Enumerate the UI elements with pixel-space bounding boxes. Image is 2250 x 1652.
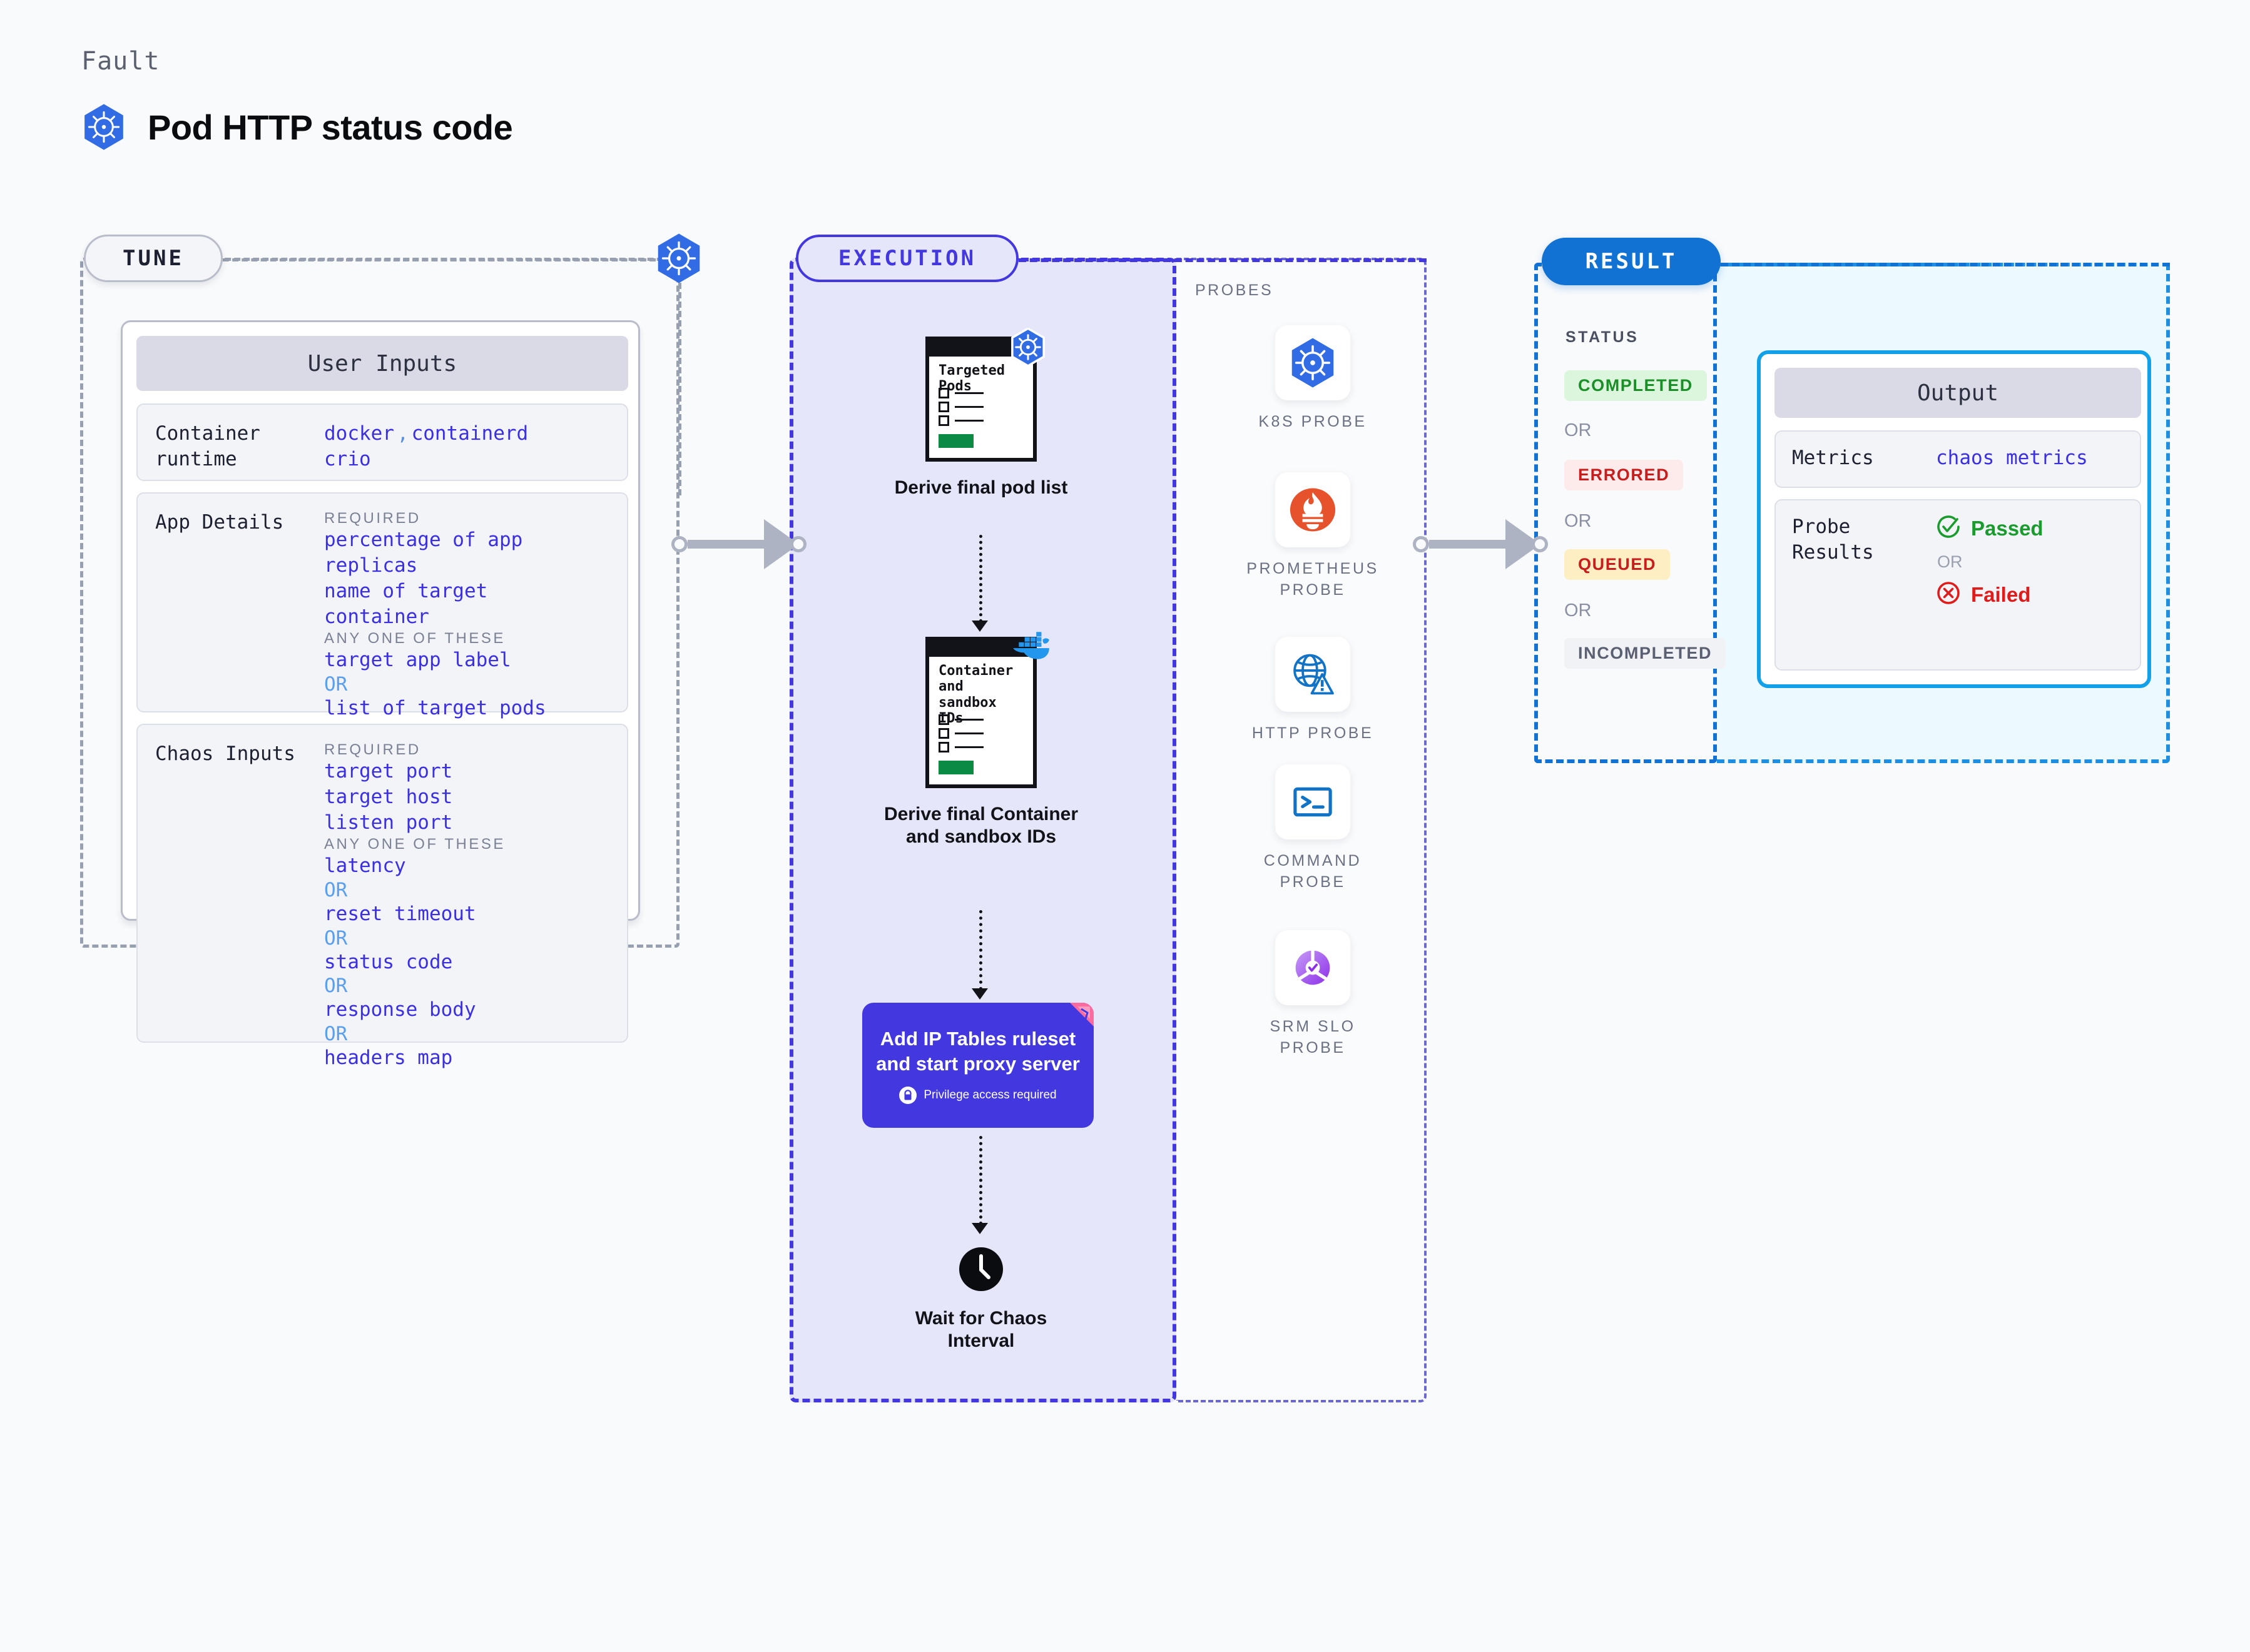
chaos-or-2: OR [324, 975, 609, 997]
user-inputs-card: User Inputs Container runtime docker , c… [121, 320, 640, 921]
connector-dot [790, 536, 807, 552]
connector-tune-to-execution [671, 519, 807, 569]
container-runtime-label-line1: Container [155, 422, 260, 445]
container-runtime-label-line2: runtime [155, 448, 237, 470]
clock-icon [958, 1246, 1004, 1292]
node-label: Derive final pod list [895, 477, 1068, 499]
kubernetes-icon [654, 233, 703, 284]
lock-icon [899, 1087, 917, 1104]
probe-results-row: Probe Results Passed OR [1774, 499, 2141, 671]
probe-results-label: Probe Results [1792, 514, 1936, 656]
app-details-required-0: percentage of app replicas [324, 527, 531, 579]
metrics-label: Metrics [1792, 445, 1936, 473]
litmus-icon [1059, 1003, 1094, 1038]
runtime-value-containerd: containerd [412, 422, 529, 445]
execution-node-add-ip-tables[interactable]: Add IP Tables ruleset and start proxy se… [862, 1003, 1094, 1128]
execution-flow-line-2 [979, 910, 982, 990]
chaos-required-0: target port [324, 759, 609, 784]
execution-node-derive-pod-list[interactable]: Targeted Pods [872, 337, 1091, 499]
runtime-value-line1: docker , containerd [324, 421, 609, 447]
status-badge-queued: QUEUED [1564, 549, 1670, 580]
privilege-note-text: Privilege access required [924, 1088, 1056, 1102]
probe-result-failed: Failed [1936, 580, 2124, 609]
execution-node-wait-interval[interactable]: Wait for Chaos Interval [872, 1246, 1091, 1352]
kubernetes-icon [1009, 328, 1047, 367]
probe-k8s[interactable]: K8S PROBE [1241, 325, 1385, 433]
chaos-required-2: listen port [324, 810, 609, 836]
execution-node-derive-container-ids[interactable]: Container and sandbox IDs [872, 637, 1091, 848]
app-details-or-0: OR [324, 673, 609, 696]
runtime-value-docker: docker [324, 422, 394, 445]
targeted-pods-document-icon: Targeted Pods [925, 337, 1037, 462]
prometheus-icon [1275, 472, 1350, 547]
chaos-or-0: OR [324, 879, 609, 901]
kubernetes-node-stem [678, 283, 681, 495]
docker-icon [1012, 631, 1049, 669]
x-circle-icon [1936, 580, 1961, 609]
probe-command[interactable]: COMMAND PROBE [1241, 764, 1385, 893]
status-badge-incompleted: INCOMPLETED [1564, 638, 1726, 669]
chaos-anyone-0: latency [324, 853, 609, 879]
execution-flow-arrow-3 [972, 1223, 988, 1234]
connector-execution-to-result [1413, 519, 1548, 569]
diagram-canvas: Fault Pod HTTP status code [0, 0, 2250, 1652]
probes-section-label: PROBES [1195, 281, 1273, 300]
status-label: STATUS [1565, 328, 1639, 347]
chaos-inputs-values: REQUIRED target port target host listen … [324, 741, 609, 1025]
node-label: Derive final Container and sandbox IDs [872, 803, 1091, 848]
connector-bar [688, 540, 765, 549]
chaos-anyone-3: response body [324, 997, 609, 1023]
runtime-value-crio: crio [324, 447, 609, 472]
probe-label: COMMAND PROBE [1241, 851, 1385, 893]
runtime-value-separator: , [397, 422, 409, 445]
status-badge-errored: ERRORED [1564, 460, 1683, 490]
app-details-label: App Details [155, 510, 324, 695]
page-title: Pod HTTP status code [148, 107, 512, 148]
output-card: Output Metrics chaos metrics Probe Resul… [1757, 350, 2151, 688]
chaos-anyone-2: status code [324, 950, 609, 975]
probe-srm-slo[interactable]: SRM SLO PROBE [1241, 930, 1385, 1059]
terminal-icon [1275, 764, 1350, 839]
chaos-required-label: REQUIRED [324, 741, 609, 759]
probe-label: HTTP PROBE [1252, 723, 1373, 744]
app-details-required-label: REQUIRED [324, 510, 609, 527]
container-sandbox-document-icon: Container and sandbox IDs [925, 637, 1037, 788]
privilege-note: Privilege access required [899, 1087, 1056, 1104]
connector-dot [1413, 536, 1429, 552]
container-runtime-row: Container runtime docker , containerd cr… [136, 403, 628, 481]
execution-flow-arrow-1 [972, 621, 988, 632]
connector-bar [1429, 540, 1507, 549]
fault-eyebrow: Fault [81, 47, 160, 76]
chaos-inputs-label: Chaos Inputs [155, 741, 324, 1025]
kubernetes-icon [1275, 325, 1350, 400]
status-or-1: OR [1564, 511, 1592, 532]
fault-title-row: Pod HTTP status code [81, 103, 512, 151]
probe-label: K8S PROBE [1258, 412, 1367, 433]
status-or-2: OR [1564, 600, 1592, 621]
app-details-anyone-label: ANY ONE OF THESE [324, 630, 609, 647]
probe-prometheus[interactable]: PROMETHEUS PROBE [1241, 472, 1385, 601]
execution-flow-arrow-2 [972, 988, 988, 1000]
http-globe-warning-icon [1275, 637, 1350, 712]
connector-dot [671, 536, 688, 552]
app-details-values: REQUIRED percentage of app replicas name… [324, 510, 609, 695]
output-card-title: Output [1774, 368, 2141, 418]
container-runtime-values: docker , containerd crio [324, 421, 609, 464]
probe-label: PROMETHEUS PROBE [1241, 559, 1385, 601]
status-or-0: OR [1564, 420, 1592, 441]
execution-flow-line-3 [979, 1136, 982, 1225]
probe-results-values: Passed OR Failed [1936, 514, 2124, 656]
app-details-required-1: name of target container [324, 579, 531, 630]
chaos-or-1: OR [324, 927, 609, 950]
execution-flow-line-1 [979, 535, 982, 622]
connector-dot [1532, 536, 1548, 552]
status-badge-completed: COMPLETED [1564, 370, 1707, 401]
result-section-pill[interactable]: RESULT [1542, 238, 1721, 285]
chaos-inputs-row: Chaos Inputs REQUIRED target port target… [136, 724, 628, 1043]
probe-result-or: OR [1937, 552, 2124, 572]
user-inputs-card-title: User Inputs [136, 336, 628, 391]
failed-text: Failed [1971, 583, 2030, 607]
node-label: Wait for Chaos Interval [900, 1307, 1062, 1352]
probe-label: SRM SLO PROBE [1241, 1016, 1385, 1059]
srm-slo-icon [1275, 930, 1350, 1005]
metrics-value: chaos metrics [1936, 445, 2088, 473]
metrics-row: Metrics chaos metrics [1774, 430, 2141, 488]
result-pill-connector [1721, 263, 2170, 266]
chaos-anyone-4: headers map [324, 1045, 609, 1071]
probe-http[interactable]: HTTP PROBE [1241, 637, 1385, 744]
container-runtime-label: Container runtime [155, 421, 324, 464]
app-details-row: App Details REQUIRED percentage of app r… [136, 492, 628, 712]
chaos-anyone-1: reset timeout [324, 901, 609, 927]
execution-pill-connector [1019, 258, 1427, 262]
check-circle-icon [1936, 514, 1961, 542]
passed-text: Passed [1971, 517, 2044, 540]
kubernetes-icon [81, 103, 126, 151]
app-details-anyone-0: target app label [324, 647, 609, 673]
app-details-anyone-1: list of target pods [324, 696, 609, 721]
chaos-anyone-label: ANY ONE OF THESE [324, 836, 609, 853]
tune-section-pill[interactable]: TUNE [84, 235, 223, 282]
chaos-required-1: target host [324, 784, 609, 810]
execution-section-pill[interactable]: EXECUTION [796, 235, 1019, 282]
chaos-or-3: OR [324, 1023, 609, 1045]
probe-result-passed: Passed [1936, 514, 2124, 542]
tune-pill-connector [223, 258, 656, 261]
